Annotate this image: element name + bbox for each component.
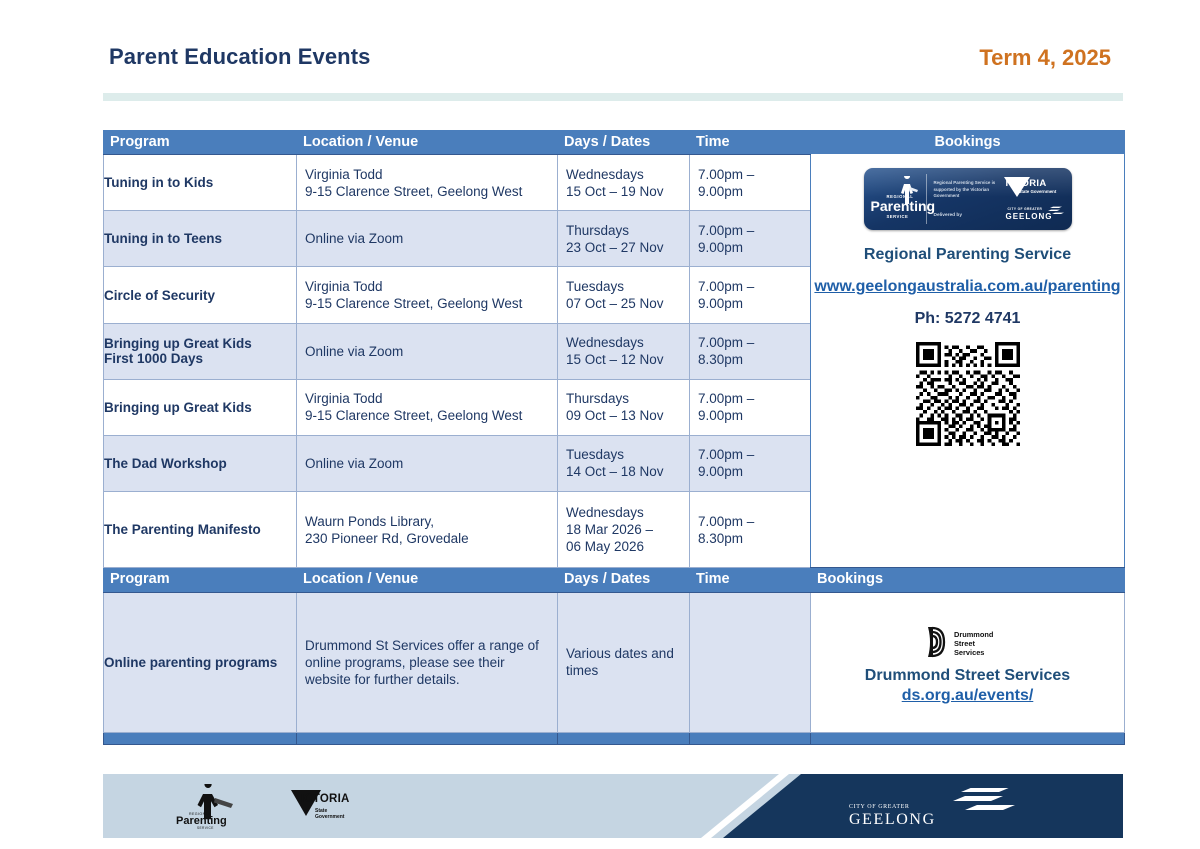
footer-victoria-sub2: Government — [315, 814, 345, 820]
events-table: Program Location / Venue Days / Dates Ti… — [103, 130, 1125, 745]
column-header-time-2: Time — [690, 568, 811, 592]
row-venue-line2: 230 Pioneer Rd, Grovedale — [305, 530, 549, 547]
column-header-bookings: Bookings REGIONAL — [811, 131, 1125, 568]
row-time-line1: 7.00pm – — [698, 166, 802, 183]
row-venue-line2: 9-15 Clarence Street, Geelong West — [305, 295, 549, 312]
row-venue-text: Drummond St Services offer a range of on… — [297, 631, 557, 694]
badge-supported-text: Regional Parenting Service is supported … — [934, 180, 1000, 200]
row-time-line1: 7.00pm – — [698, 222, 802, 239]
document-page: Parent Education Events Term 4, 2025 Pro… — [0, 0, 1200, 849]
table-header-row-2: Program Location / Venue Days / Dates Ti… — [104, 568, 1125, 592]
row-time-line1: 7.00pm – — [698, 278, 802, 295]
drummond-street-services-logo: Drummond Street Services — [922, 623, 1014, 661]
row-venue: Online via Zoom — [297, 211, 558, 267]
strip-cell-5 — [811, 732, 1125, 744]
row-time-line2: 9.00pm — [698, 463, 802, 480]
row-program: Online parenting programs — [104, 592, 297, 732]
strip-cell-2 — [297, 732, 558, 744]
column-header-time: Time — [690, 131, 811, 155]
victoria-state-government-logo-footer: ICTORIA State Government — [289, 785, 355, 829]
row-dates-label-2: 06 May 2026 — [566, 538, 681, 555]
column-header-program-2-label: Program — [104, 568, 296, 591]
drummond-logo-line3: Services — [954, 648, 984, 657]
row-venue: Virginia Todd 9-15 Clarence Street, Geel… — [297, 379, 558, 435]
row-venue-line1: Virginia Todd — [305, 166, 549, 183]
footer-rps-sub: SERVICE — [197, 826, 214, 830]
row-program: Tuning in to Teens — [104, 211, 297, 267]
geelong-swoosh-icon — [1036, 206, 1066, 216]
row-program: The Parenting Manifesto — [104, 491, 297, 567]
footer-geelong-label: GEELONG — [849, 811, 936, 826]
row-days-label: Wednesdays — [566, 166, 681, 183]
row-program-line2: First 1000 Days — [104, 351, 296, 366]
row-venue-line1: Waurn Ponds Library, — [305, 513, 549, 530]
row-days-text: Various dates and times — [558, 639, 689, 685]
row-days: Tuesdays 14 Oct – 18 Nov — [558, 435, 690, 491]
row-time-line2: 8.30pm — [698, 530, 802, 547]
page-footer: Parenting REGIONAL SERVICE ICTORIA State… — [103, 774, 1123, 838]
row-time: 7.00pm – 9.00pm — [690, 435, 811, 491]
page-title: Parent Education Events — [109, 44, 370, 70]
row-days: Wednesdays 15 Oct – 12 Nov — [558, 323, 690, 379]
column-header-time-label: Time — [690, 131, 810, 154]
row-days: Wednesdays 15 Oct – 19 Nov — [558, 155, 690, 211]
row-time-line2: 9.00pm — [698, 239, 802, 256]
drummond-logo-line2: Street — [954, 639, 975, 648]
row-days-label: Thursdays — [566, 390, 681, 407]
row-days: Thursdays 09 Oct – 13 Nov — [558, 379, 690, 435]
badge-brand-label: Parenting — [871, 199, 936, 213]
bookings-panel: REGIONAL Parenting SERVICE Regional Pare… — [811, 154, 1124, 567]
row-program: Bringing up Great Kids — [104, 379, 297, 435]
row-time-line2: 9.00pm — [698, 407, 802, 424]
header-divider — [103, 93, 1123, 101]
city-of-greater-geelong-logo-footer: CITY OF GREATER GEELONG — [849, 788, 1035, 826]
row-venue-line1: Online via Zoom — [305, 455, 549, 472]
row-dates-label: 07 Oct – 25 Nov — [566, 295, 681, 312]
row-days: Various dates and times — [558, 592, 690, 732]
drummond-name: Drummond Street Services — [865, 667, 1070, 685]
row-dates-label: 15 Oct – 12 Nov — [566, 351, 681, 368]
row-time: 7.00pm – 8.30pm — [690, 323, 811, 379]
row-venue: Online via Zoom — [297, 435, 558, 491]
strip-cell-1 — [104, 732, 297, 744]
row-time: 7.00pm – 9.00pm — [690, 211, 811, 267]
table-bottom-strip — [104, 732, 1125, 744]
row-venue-line1: Online via Zoom — [305, 230, 549, 247]
row-time: 7.00pm – 9.00pm — [690, 267, 811, 323]
row-time-line1: 7.00pm – — [698, 334, 802, 351]
row-venue: Drummond St Services offer a range of on… — [297, 592, 558, 732]
row-dates-label: 15 Oct – 19 Nov — [566, 183, 681, 200]
footer-geelong-sup: CITY OF GREATER — [849, 804, 909, 810]
table-row-online-programs: Online parenting programs Drummond St Se… — [104, 592, 1125, 732]
row-dates-label: 23 Oct – 27 Nov — [566, 239, 681, 256]
row-days-label: Wednesdays — [566, 504, 681, 521]
row-time-line2: 9.00pm — [698, 295, 802, 312]
column-header-bookings-2-label: Bookings — [811, 568, 1124, 591]
strip-cell-3 — [558, 732, 690, 744]
row-venue-line1: Virginia Todd — [305, 390, 549, 407]
row-venue-line2: 9-15 Clarence Street, Geelong West — [305, 183, 549, 200]
row-venue-line2: 9-15 Clarence Street, Geelong West — [305, 407, 549, 424]
badge-service-label: SERVICE — [887, 214, 909, 219]
table-header-row: Program Location / Venue Days / Dates Ti… — [104, 131, 1125, 155]
row-days: Thursdays 23 Oct – 27 Nov — [558, 211, 690, 267]
row-days: Wednesdays 18 Mar 2026 – 06 May 2026 — [558, 491, 690, 567]
row-venue: Online via Zoom — [297, 323, 558, 379]
badge-victoria-sub-label: State Government — [1019, 189, 1057, 195]
row-time-line1: 7.00pm – — [698, 513, 802, 530]
badge-victoria-label: ICTORIA — [1006, 178, 1047, 189]
row-time: 7.00pm – 9.00pm — [690, 379, 811, 435]
row-venue: Virginia Todd 9-15 Clarence Street, Geel… — [297, 267, 558, 323]
row-time-line2: 8.30pm — [698, 351, 802, 368]
column-header-bookings-label: Bookings — [811, 131, 1124, 154]
column-header-days-2: Days / Dates — [558, 568, 690, 592]
page-header: Parent Education Events Term 4, 2025 — [103, 44, 1123, 86]
qr-code-icon[interactable] — [916, 342, 1020, 446]
column-header-program-2: Program — [104, 568, 297, 592]
column-header-days-2-label: Days / Dates — [558, 568, 689, 591]
row-dates-label: 09 Oct – 13 Nov — [566, 407, 681, 424]
row-venue-line1: Virginia Todd — [305, 278, 549, 295]
row-program: Bringing up Great Kids First 1000 Days — [104, 323, 297, 379]
row-time-text — [690, 656, 810, 668]
badge-delivered-label: Delivered by — [934, 213, 963, 218]
footer-victoria-label: ICTORIA — [301, 793, 349, 805]
column-header-bookings-2: Bookings — [811, 568, 1125, 592]
row-days: Tuesdays 07 Oct – 25 Nov — [558, 267, 690, 323]
drummond-logo-line1: Drummond — [954, 630, 994, 639]
column-header-venue: Location / Venue — [297, 131, 558, 155]
row-dates-label: 18 Mar 2026 – — [566, 521, 681, 538]
row-program-line1: Bringing up Great Kids — [104, 336, 296, 351]
row-days-label: Wednesdays — [566, 334, 681, 351]
row-time: 7.00pm – 8.30pm — [690, 491, 811, 567]
bookings-service-name: Regional Parenting Service — [864, 246, 1071, 264]
row-bookings-drummond: Drummond Street Services Drummond Street… — [811, 592, 1125, 732]
row-dates-label: 14 Oct – 18 Nov — [566, 463, 681, 480]
drummond-link[interactable]: ds.org.au/events/ — [902, 687, 1034, 705]
column-header-program: Program — [104, 131, 297, 155]
column-header-days: Days / Dates — [558, 131, 690, 155]
row-venue: Virginia Todd 9-15 Clarence Street, Geel… — [297, 155, 558, 211]
strip-cell-4 — [690, 732, 811, 744]
row-program: Circle of Security — [104, 267, 297, 323]
row-time — [690, 592, 811, 732]
column-header-days-label: Days / Dates — [558, 131, 689, 154]
row-venue-line1: Online via Zoom — [305, 343, 549, 360]
column-header-venue-2: Location / Venue — [297, 568, 558, 592]
bookings-website-link[interactable]: www.geelongaustralia.com.au/parenting — [814, 278, 1120, 296]
regional-parenting-service-logo-footer: Parenting REGIONAL SERVICE — [175, 784, 241, 830]
row-time-line2: 9.00pm — [698, 183, 802, 200]
row-program: The Dad Workshop — [104, 435, 297, 491]
footer-rps-sup: REGIONAL — [189, 812, 211, 816]
bookings-phone: Ph: 5272 4741 — [915, 310, 1021, 328]
row-days-label: Thursdays — [566, 222, 681, 239]
row-time-line1: 7.00pm – — [698, 446, 802, 463]
column-header-venue-label: Location / Venue — [297, 131, 557, 154]
row-venue: Waurn Ponds Library, 230 Pioneer Rd, Gro… — [297, 491, 558, 567]
row-program: Tuning in to Kids — [104, 155, 297, 211]
regional-parenting-service-logo: REGIONAL Parenting SERVICE Regional Pare… — [864, 168, 1072, 230]
term-label: Term 4, 2025 — [979, 45, 1111, 71]
row-days-label: Tuesdays — [566, 278, 681, 295]
row-time: 7.00pm – 9.00pm — [690, 155, 811, 211]
row-days-label: Tuesdays — [566, 446, 681, 463]
column-header-time-2-label: Time — [690, 568, 810, 591]
row-time-line1: 7.00pm – — [698, 390, 802, 407]
column-header-program-label: Program — [104, 131, 296, 154]
column-header-venue-2-label: Location / Venue — [297, 568, 557, 591]
